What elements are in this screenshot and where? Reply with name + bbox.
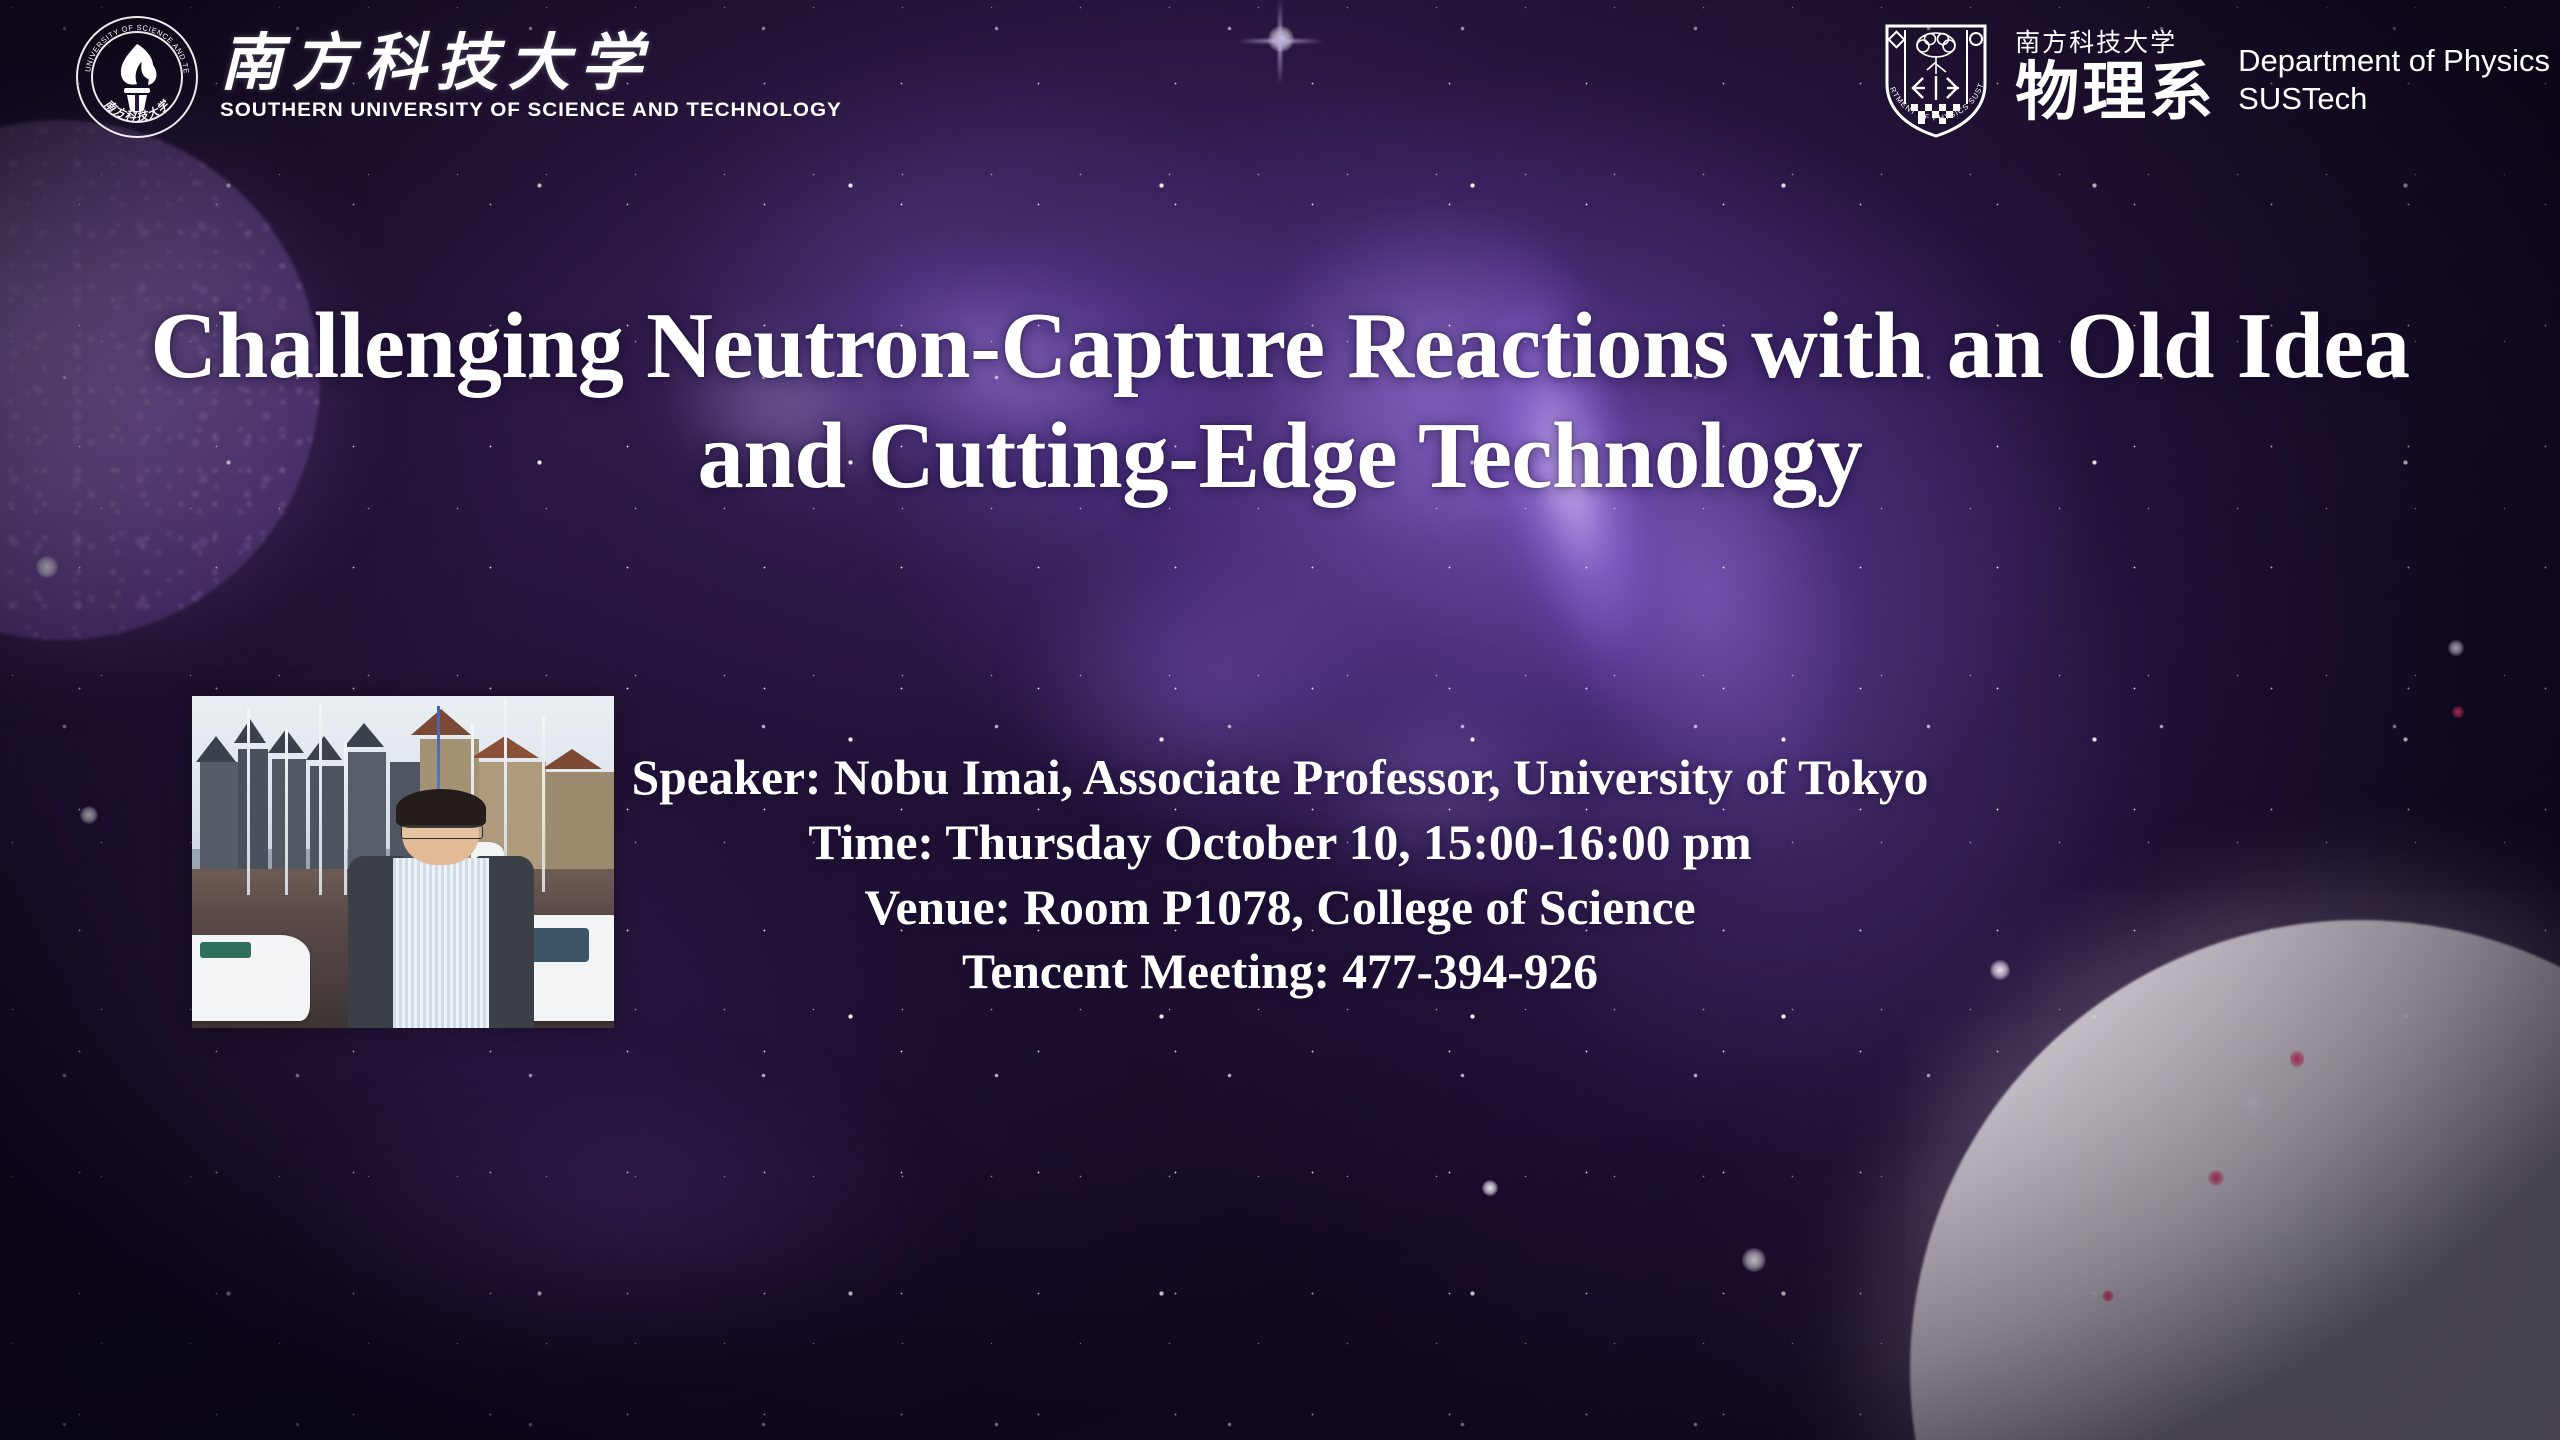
physics-english-name: Department of Physics SUSTech <box>2238 42 2550 124</box>
speaker-line: Speaker: Nobu Imai, Associate Professor,… <box>13 745 2547 810</box>
physics-department-shield-icon: DEPARTMENT OF PHYSICS SUSTECH <box>1877 12 1995 140</box>
tencent-meeting-line: Tencent Meeting: 477-394-926 <box>13 939 2547 1004</box>
physics-chinese-university: 南方科技大学 <box>2015 28 2216 59</box>
physics-chinese-department: 物理系 <box>2015 60 2216 124</box>
physics-english-line-2: SUSTech <box>2238 80 2550 118</box>
seminar-details: Speaker: Nobu Imai, Associate Professor,… <box>0 745 2560 1004</box>
venue-line: Venue: Room P1078, College of Science <box>13 875 2547 940</box>
physics-english-line-1: Department of Physics <box>2238 42 2550 80</box>
seminar-poster: SOUTHERN UNIVERSITY OF SCIENCE AND TECHN… <box>0 0 2560 1440</box>
title-line-2: and Cutting-Edge Technology <box>43 402 2517 512</box>
physics-department-logo: DEPARTMENT OF PHYSICS SUSTECH 南方科技大学 物理系… <box>1877 12 2550 140</box>
sustech-seal-icon: SOUTHERN UNIVERSITY OF SCIENCE AND TECHN… <box>76 16 198 138</box>
poster-title: Challenging Neutron-Capture Reactions wi… <box>0 292 2560 512</box>
sustech-chinese-wordmark: 南方科技大学 <box>220 32 807 97</box>
title-line-1: Challenging Neutron-Capture Reactions wi… <box>43 292 2517 402</box>
time-line: Time: Thursday October 10, 15:00-16:00 p… <box>13 810 2547 875</box>
sustech-logo: SOUTHERN UNIVERSITY OF SCIENCE AND TECHN… <box>76 16 807 138</box>
sustech-english-wordmark: SOUTHERN UNIVERSITY OF SCIENCE AND TECHN… <box>220 99 842 122</box>
